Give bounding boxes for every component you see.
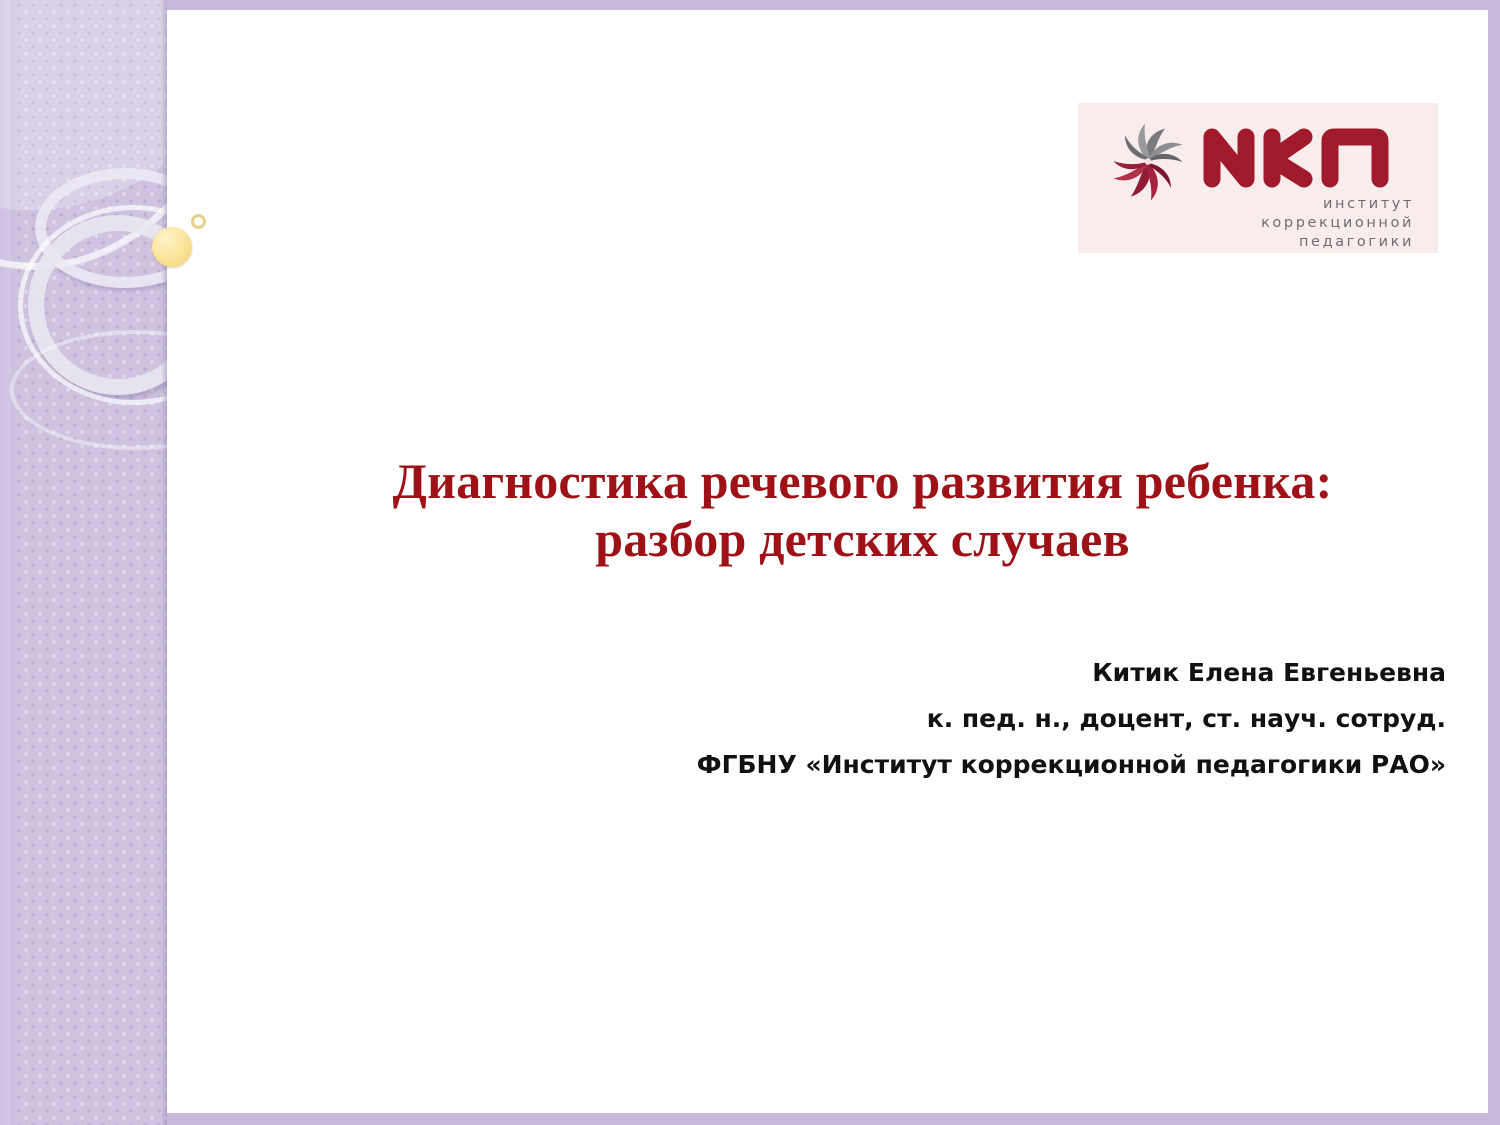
page-title: Диагностика речевого развития ребенка: р… xyxy=(250,452,1475,568)
author-affiliation: ФГБНУ «Институт коррекционной педагогики… xyxy=(600,742,1446,788)
logo-subtitle-line-2: коррекционной xyxy=(1078,214,1414,233)
logo-subtitle-line-1: институт xyxy=(1078,195,1414,214)
title-line-1: Диагностика речевого развития ребенка: xyxy=(250,452,1475,510)
institute-logo: институт коррекционной педагогики xyxy=(1078,103,1438,253)
author-credentials: к. пед. н., доцент, ст. науч. сотруд. xyxy=(600,696,1446,742)
sidebar-edge-shadow xyxy=(161,0,167,1125)
presentation-slide: институт коррекционной педагогики Диагно… xyxy=(0,0,1500,1125)
logo-wordmark-ikp xyxy=(1200,111,1426,201)
author-block: Китик Елена Евгеньевна к. пед. н., доцен… xyxy=(600,650,1446,788)
slide-border-top xyxy=(0,0,1500,10)
slide-border-right xyxy=(1488,0,1500,1125)
gold-circle-accent xyxy=(152,227,192,267)
logo-subtitle-line-3: педагогики xyxy=(1078,233,1414,252)
author-name: Китик Елена Евгеньевна xyxy=(600,650,1446,696)
title-line-2: разбор детских случаев xyxy=(250,510,1475,568)
decorative-sidebar xyxy=(0,0,167,1125)
gold-ring-accent xyxy=(191,214,206,229)
slide-border-bottom xyxy=(0,1113,1500,1125)
logo-subtitle: институт коррекционной педагогики xyxy=(1078,195,1426,252)
